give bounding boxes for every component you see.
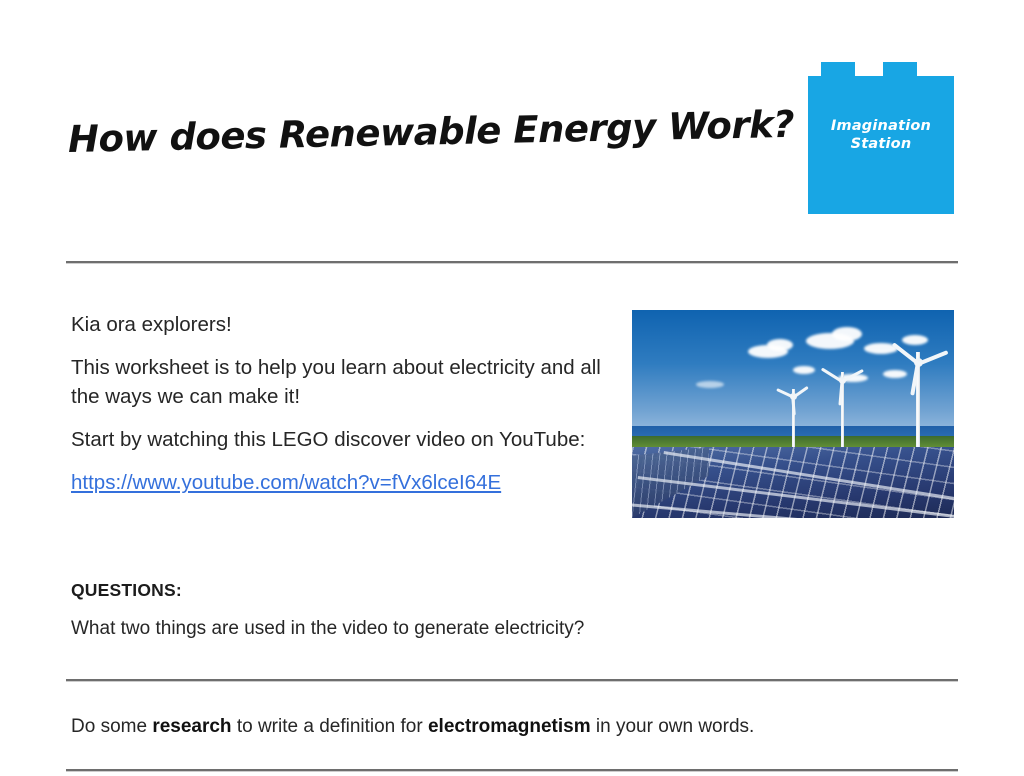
- intro-greeting: Kia ora explorers!: [71, 310, 619, 339]
- wind-turbine: [819, 372, 871, 447]
- cloud-shape: [832, 327, 862, 341]
- research-instruction: Do some research to write a definition f…: [71, 716, 754, 738]
- research-bold-research: research: [152, 716, 231, 737]
- page-title: How does Renewable Energy Work?: [68, 103, 795, 161]
- question-item-1: What two things are used in the video to…: [71, 618, 584, 640]
- lego-stud-left-icon: [821, 62, 855, 77]
- wind-turbine: [890, 352, 954, 448]
- logo-line-1: Imagination: [808, 117, 954, 135]
- turbine-blade: [917, 350, 948, 365]
- divider-top: [66, 261, 958, 263]
- intro-link-wrapper: https://www.youtube.com/watch?v=fVx6lceI…: [71, 468, 619, 497]
- intro-paragraph-2: Start by watching this LEGO discover vid…: [71, 425, 619, 454]
- questions-heading: QUESTIONS:: [71, 580, 182, 601]
- worksheet-page: How does Renewable Energy Work? Imaginat…: [0, 0, 1024, 776]
- intro-paragraph-1: This worksheet is to help you learn abou…: [71, 353, 619, 411]
- research-bold-electromagnetism: electromagnetism: [428, 716, 591, 737]
- lego-stud-right-icon: [883, 62, 917, 77]
- research-suffix: in your own words.: [591, 716, 755, 737]
- divider-middle: [66, 679, 958, 681]
- research-middle: to write a definition for: [232, 716, 428, 737]
- renewable-energy-photo: [632, 310, 954, 518]
- intro-text-block: Kia ora explorers! This worksheet is to …: [71, 310, 619, 498]
- divider-bottom: [66, 769, 958, 771]
- logo-text: Imagination Station: [808, 117, 954, 153]
- youtube-video-link[interactable]: https://www.youtube.com/watch?v=fVx6lceI…: [71, 471, 501, 494]
- cloud-shape: [696, 381, 724, 388]
- research-prefix: Do some: [71, 716, 152, 737]
- imagination-station-logo: Imagination Station: [808, 62, 954, 214]
- wind-turbine: [774, 389, 814, 447]
- logo-line-2: Station: [808, 135, 954, 153]
